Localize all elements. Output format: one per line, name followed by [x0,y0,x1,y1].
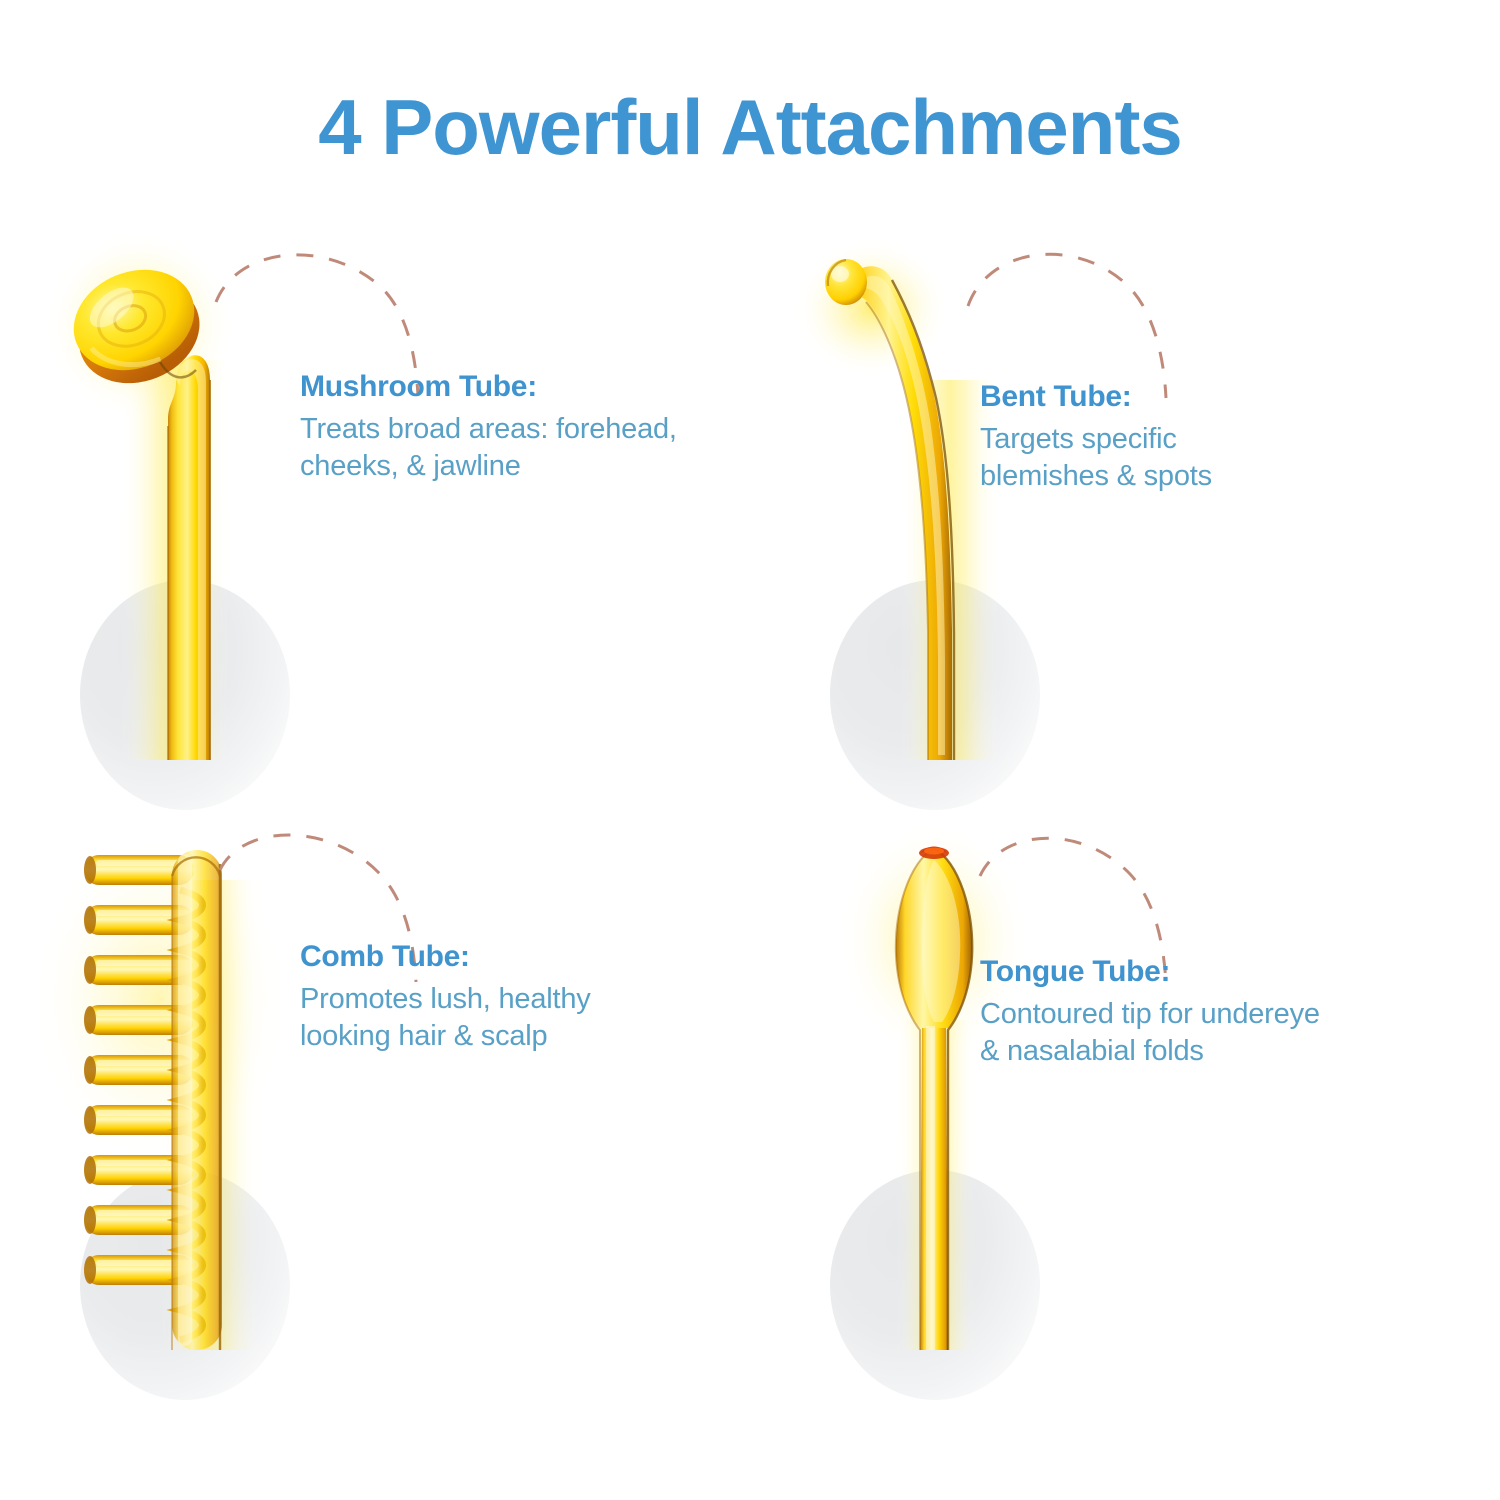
attachment-description: Contoured tip for undereye & nasalabial … [980,996,1460,1070]
attachment-title: Tongue Tube: [980,955,1460,990]
attachment-card-comb-tube: Comb Tube: Promotes lush, healthy lookin… [0,820,750,1410]
attachment-description: Promotes lush, healthy looking hair & sc… [300,981,730,1055]
attachment-title: Comb Tube: [300,940,730,975]
attachment-caption: Tongue Tube: Contoured tip for undereye … [980,955,1460,1070]
attachment-caption: Comb Tube: Promotes lush, healthy lookin… [300,940,730,1055]
attachment-card-bent-tube: Bent Tube: Targets specific blemishes & … [750,230,1500,820]
attachment-caption: Mushroom Tube: Treats broad areas: foreh… [300,370,730,485]
attachments-grid: Mushroom Tube: Treats broad areas: foreh… [0,230,1500,1500]
attachment-title: Mushroom Tube: [300,370,730,405]
attachment-description: Treats broad areas: forehead, cheeks, & … [300,411,730,485]
attachment-title: Bent Tube: [980,380,1400,415]
attachment-card-mushroom-tube: Mushroom Tube: Treats broad areas: foreh… [0,230,750,820]
attachment-caption: Bent Tube: Targets specific blemishes & … [980,380,1400,495]
attachment-card-tongue-tube: Tongue Tube: Contoured tip for undereye … [750,820,1500,1410]
attachment-description: Targets specific blemishes & spots [980,421,1400,495]
page-title: 4 Powerful Attachments [0,82,1500,173]
